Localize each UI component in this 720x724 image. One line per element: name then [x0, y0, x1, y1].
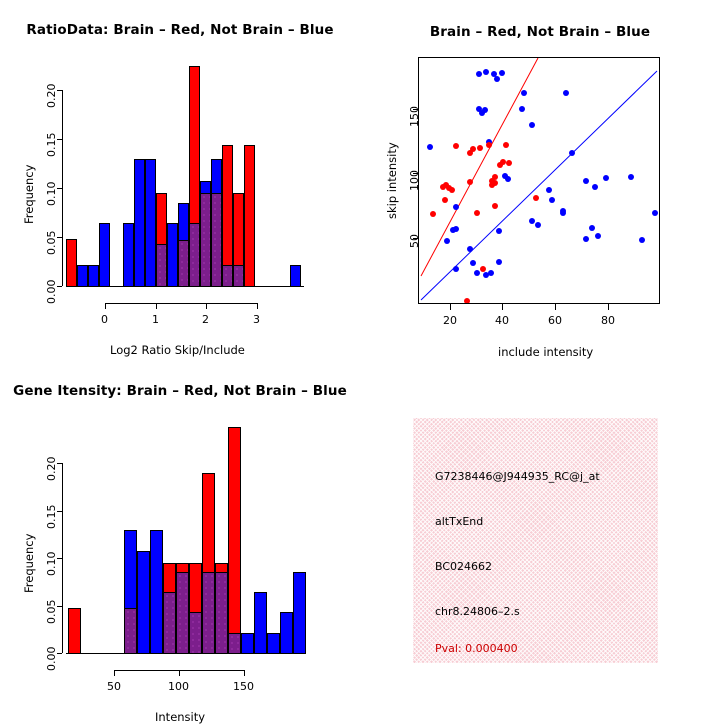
info-accession: BC024662 [435, 560, 492, 573]
ratio-bar-purple-3 [189, 223, 200, 287]
panel-info-box: G7238446@J944935_RC@j_at altTxEnd BC0246… [413, 418, 658, 663]
ratio-hist-xtick-label-2: 2 [202, 313, 209, 326]
scatter-point-not-brain [474, 270, 480, 276]
scatter-point-brain [449, 187, 455, 193]
ratio-hist-ytick-label-0.10: 0.10 [45, 182, 58, 207]
gene-bar-blue-5 [254, 592, 267, 654]
ratio-hist-x-axis [105, 303, 257, 304]
scatter-point-brain [533, 195, 539, 201]
ratio-bar-purple-5 [211, 193, 222, 287]
scatter-point-not-brain [628, 174, 634, 180]
gene-hist-ytick-label-0.15: 0.15 [45, 505, 58, 530]
gene-hist-ytick-label-0.20: 0.20 [45, 457, 58, 482]
ratio-hist-y-axis-label: Frequency [22, 165, 36, 224]
scatter-point-brain [480, 266, 486, 272]
scatter-point-not-brain [483, 69, 489, 75]
ratio-bar-blue-3 [99, 223, 110, 287]
scatter-point-brain [470, 146, 476, 152]
gene-bar-blue-8 [293, 572, 306, 654]
scatter-point-not-brain [519, 106, 525, 112]
gene-hist-xtick-50 [114, 670, 115, 676]
ratio-bar-blue-7 [167, 223, 178, 287]
ratio-hist-x-axis-label: Log2 Ratio Skip/Include [110, 343, 245, 357]
scatter-xtick-20 [450, 304, 451, 310]
ratio-hist-y-axis [62, 90, 63, 286]
scatter-point-brain [430, 211, 436, 217]
scatter-point-not-brain [560, 210, 566, 216]
ratio-hist-ytick-label-0.00: 0.00 [45, 280, 58, 305]
gene-bar-purple-7 [228, 633, 241, 654]
scatter-point-not-brain [549, 197, 555, 203]
gene-bar-red-7 [228, 427, 241, 654]
ratio-hist-xtick-label-3: 3 [253, 313, 260, 326]
scatter-point-not-brain [595, 233, 601, 239]
scatter-point-brain [486, 142, 492, 148]
scatter-point-brain [492, 203, 498, 209]
info-probe-id: G7238446@J944935_RC@j_at [435, 470, 600, 483]
scatter-point-not-brain [603, 175, 609, 181]
gene-hist-xtick-label-150: 150 [233, 680, 254, 693]
scatter-ytick-label-150: 150 [408, 106, 421, 127]
gene-bar-blue-4 [241, 633, 254, 654]
scatter-point-brain [453, 143, 459, 149]
scatter-xtick-40 [502, 304, 503, 310]
gene-bar-purple-1 [124, 608, 137, 654]
scatter-point-not-brain [589, 225, 595, 231]
gene-bar-blue-7 [280, 612, 293, 654]
gene-hist-y-axis [62, 463, 63, 653]
scatter-xtick-label-60: 60 [548, 314, 562, 327]
gene-hist-ytick-label-0.10: 0.10 [45, 552, 58, 577]
ratio-bar-blue-11 [290, 265, 301, 287]
panel-gene-histogram: Gene Itensity: Brain – Red, Not Brain – … [0, 360, 360, 720]
scatter-point-not-brain [496, 259, 502, 265]
scatter-xtick-label-80: 80 [601, 314, 615, 327]
scatter-point-not-brain [505, 176, 511, 182]
ratio-bar-purple-4 [200, 193, 211, 287]
scatter-point-not-brain [453, 266, 459, 272]
scatter-point-brain [464, 298, 470, 304]
scatter-point-not-brain [453, 226, 459, 232]
gene-bar-purple-2 [163, 592, 176, 654]
ratio-hist-ytick-label-0.05: 0.05 [45, 231, 58, 256]
ratio-bar-red-1 [66, 239, 77, 287]
scatter-point-not-brain [444, 238, 450, 244]
ratio-bar-purple-2 [178, 240, 189, 287]
scatter-point-brain [477, 145, 483, 151]
scatter-point-not-brain [453, 204, 459, 210]
scatter-point-not-brain [583, 178, 589, 184]
gene-hist-ytick-label-0.05: 0.05 [45, 600, 58, 625]
scatter-point-not-brain [546, 187, 552, 193]
scatter-x-axis-label: include intensity [498, 345, 593, 359]
scatter-point-not-brain [563, 90, 569, 96]
scatter-xtick-60 [555, 304, 556, 310]
gene-bar-purple-4 [189, 612, 202, 654]
ratio-hist-title: RatioData: Brain – Red, Not Brain – Blue [0, 22, 360, 38]
scatter-point-not-brain [529, 122, 535, 128]
info-event-type: altTxEnd [435, 515, 483, 528]
ratio-hist-xtick-1 [156, 303, 157, 309]
ratio-hist-ytick-label-0.20: 0.20 [45, 84, 58, 109]
gene-hist-y-axis-label: Frequency [22, 534, 36, 593]
scatter-xtick-label-20: 20 [443, 314, 457, 327]
gene-hist-xtick-label-100: 100 [168, 680, 189, 693]
scatter-xtick-80 [608, 304, 609, 310]
scatter-point-not-brain [467, 246, 473, 252]
gene-hist-xtick-150 [244, 670, 245, 676]
scatter-point-not-brain [494, 76, 500, 82]
gene-bar-blue-3 [150, 530, 163, 654]
scatter-point-not-brain [496, 228, 502, 234]
ratio-bar-red-6 [244, 145, 255, 287]
scatter-point-not-brain [482, 107, 488, 113]
ratio-bar-blue-2 [88, 265, 99, 287]
scatter-ytick-label-100: 100 [408, 170, 421, 191]
ratio-hist-ytick-label-0.15: 0.15 [45, 133, 58, 158]
ratio-bar-blue-1 [77, 265, 88, 287]
scatter-point-brain [474, 210, 480, 216]
ratio-bar-purple-7 [233, 265, 244, 287]
figure-canvas: RatioData: Brain – Red, Not Brain – Blue… [0, 0, 720, 720]
gene-bar-red-1 [68, 608, 81, 654]
scatter-point-not-brain [521, 90, 527, 96]
scatter-point-not-brain [583, 236, 589, 242]
scatter-ytick-label-50: 50 [408, 234, 421, 248]
scatter-plot-area [418, 57, 660, 304]
scatter-point-not-brain [499, 70, 505, 76]
panel-ratio-histogram: RatioData: Brain – Red, Not Brain – Blue… [0, 0, 360, 360]
gene-bar-purple-3 [176, 572, 189, 654]
scatter-point-not-brain [529, 218, 535, 224]
gene-bar-blue-2 [137, 551, 150, 654]
scatter-point-brain [503, 142, 509, 148]
ratio-hist-xtick-2 [206, 303, 207, 309]
ratio-hist-xtick-label-0: 0 [101, 313, 108, 326]
scatter-xtick-label-40: 40 [495, 314, 509, 327]
scatter-point-not-brain [470, 260, 476, 266]
ratio-hist-xtick-3 [257, 303, 258, 309]
scatter-point-brain [506, 160, 512, 166]
scatter-title: Brain – Red, Not Brain – Blue [360, 24, 720, 40]
scatter-point-not-brain [488, 270, 494, 276]
gene-hist-ytick-label-0.00: 0.00 [45, 647, 58, 672]
panel-scatter: Brain – Red, Not Brain – Blue [360, 0, 720, 360]
scatter-y-axis-label: skip intensity [385, 142, 399, 219]
scatter-point-not-brain [427, 144, 433, 150]
scatter-point-brain [442, 197, 448, 203]
ratio-bar-purple-6 [222, 265, 233, 287]
ratio-hist-xtick-label-1: 1 [152, 313, 159, 326]
scatter-point-not-brain [476, 71, 482, 77]
scatter-point-not-brain [535, 222, 541, 228]
ratio-bar-blue-5 [134, 159, 145, 287]
scatter-point-not-brain [592, 184, 598, 190]
gene-bar-purple-6 [215, 572, 228, 654]
gene-hist-xtick-100 [179, 670, 180, 676]
gene-bar-blue-6 [267, 633, 280, 654]
ratio-hist-xtick-0 [105, 303, 106, 309]
gene-bar-purple-5 [202, 572, 215, 654]
scatter-point-brain [492, 180, 498, 186]
scatter-point-not-brain [569, 150, 575, 156]
gene-hist-title: Gene Itensity: Brain – Red, Not Brain – … [0, 383, 360, 399]
ratio-bar-blue-6 [145, 159, 156, 287]
scatter-point-not-brain [652, 210, 658, 216]
scatter-point-not-brain [639, 237, 645, 243]
ratio-bar-blue-4 [123, 223, 134, 287]
gene-hist-x-axis-label: Intensity [155, 710, 205, 724]
info-locus: chr8.24806–2.s [435, 605, 520, 618]
scatter-point-brain [467, 179, 473, 185]
ratio-bar-purple-1 [156, 244, 167, 287]
info-pval: Pval: 0.000400 [435, 642, 518, 655]
gene-hist-xtick-label-50: 50 [107, 680, 121, 693]
